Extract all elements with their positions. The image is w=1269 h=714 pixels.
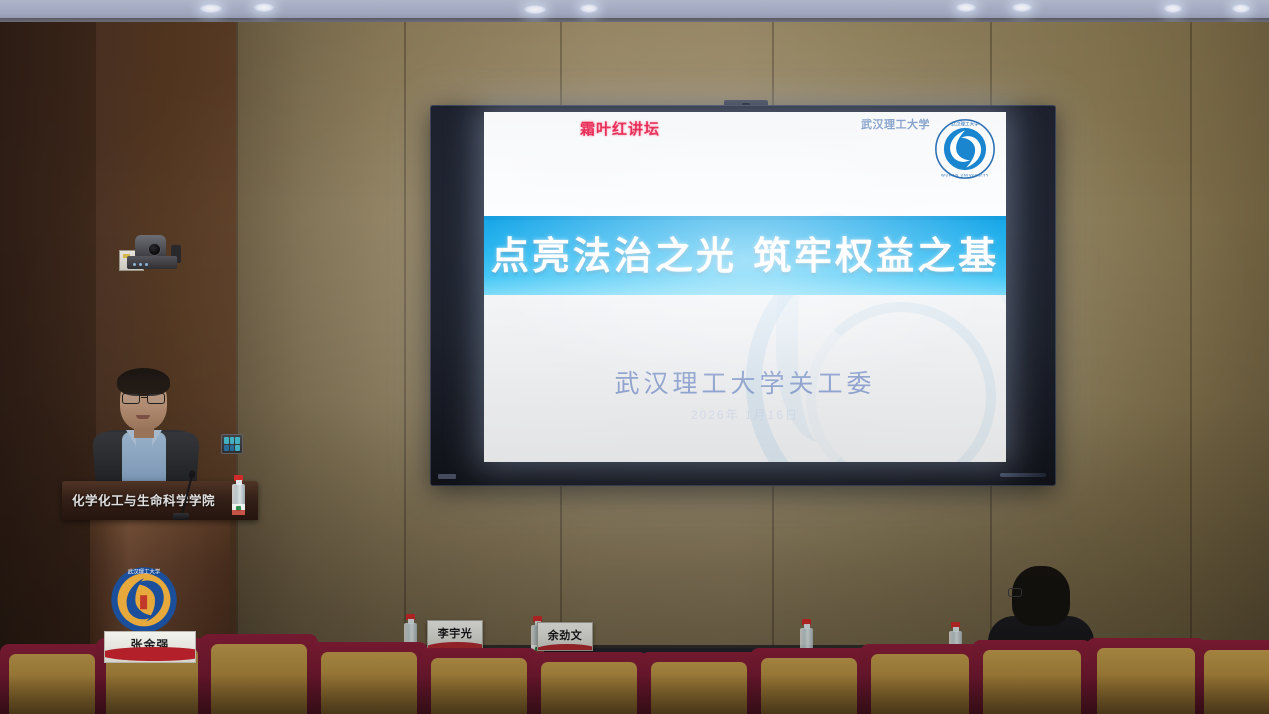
seat-11	[1086, 638, 1206, 714]
presentation-slide: 霜叶红讲坛 武汉理工大学 武汉理工大学 WUHAN UNIVERSITY 点亮法…	[484, 112, 1006, 462]
presenter-hair	[117, 368, 170, 396]
nameplate-li-yuguang-text: 李宇光	[428, 625, 482, 641]
ceiling-light-5	[956, 3, 976, 12]
seat-1	[0, 644, 104, 714]
ceiling-light-6	[1012, 3, 1032, 12]
seat-9	[860, 644, 980, 714]
ceiling-light-3	[524, 5, 546, 14]
slide-logo-wordmark: 武汉理工大学	[861, 116, 930, 132]
podium-sign-text: 化学化工与生命科学学院	[72, 490, 248, 509]
slide-forum-banner: 霜叶红讲坛	[580, 118, 660, 139]
lecture-hall-photo: 霜叶红讲坛 武汉理工大学 武汉理工大学 WUHAN UNIVERSITY 点亮法…	[0, 0, 1269, 714]
ceiling-light-4	[580, 4, 598, 13]
ceiling-light-2	[254, 3, 274, 12]
ceiling-light-1	[200, 4, 222, 13]
microphone-base	[173, 513, 189, 520]
display-brand-logo	[438, 474, 456, 479]
ptz-camera	[127, 235, 177, 269]
wut-emblem-icon: 武汉理工大学	[100, 561, 188, 631]
slide-title: 点亮法治之光 筑牢权益之基	[484, 225, 1006, 280]
slide-date: 2026年 1月16日	[484, 406, 1006, 423]
nameplate-li-yuguang: 李宇光	[427, 620, 483, 649]
wut-logo-icon: 武汉理工大学 WUHAN UNIVERSITY	[934, 118, 996, 180]
seat-12	[1196, 640, 1269, 714]
podium-nameplate: 张金强	[104, 631, 196, 663]
ceiling-light-7	[1164, 4, 1182, 13]
seat-4	[310, 642, 428, 714]
glasses-icon	[120, 393, 167, 404]
svg-text:WUHAN UNIVERSITY: WUHAN UNIVERSITY	[941, 173, 989, 177]
ptz-camera-lens	[148, 243, 161, 256]
seat-8	[750, 648, 868, 714]
seat-5	[420, 648, 538, 714]
seat-10	[972, 640, 1092, 714]
seat-6	[530, 652, 648, 714]
slide-organization: 武汉理工大学关工委	[484, 364, 1006, 400]
water-bottle-podium	[232, 475, 245, 515]
podium-top: 化学化工与生命科学学院	[62, 481, 258, 520]
nameplate-yu-jinwen: 余劲文	[537, 622, 593, 651]
podium-nameplate-text: 张金强	[105, 636, 195, 653]
seat-7	[640, 652, 758, 714]
av-control-panel[interactable]	[221, 434, 243, 454]
nameplate-yu-jinwen-text: 余劲文	[538, 627, 592, 643]
ceiling-light-8	[1232, 4, 1250, 13]
seat-3	[200, 634, 318, 714]
display-ir-sensor-strip	[1000, 473, 1046, 477]
